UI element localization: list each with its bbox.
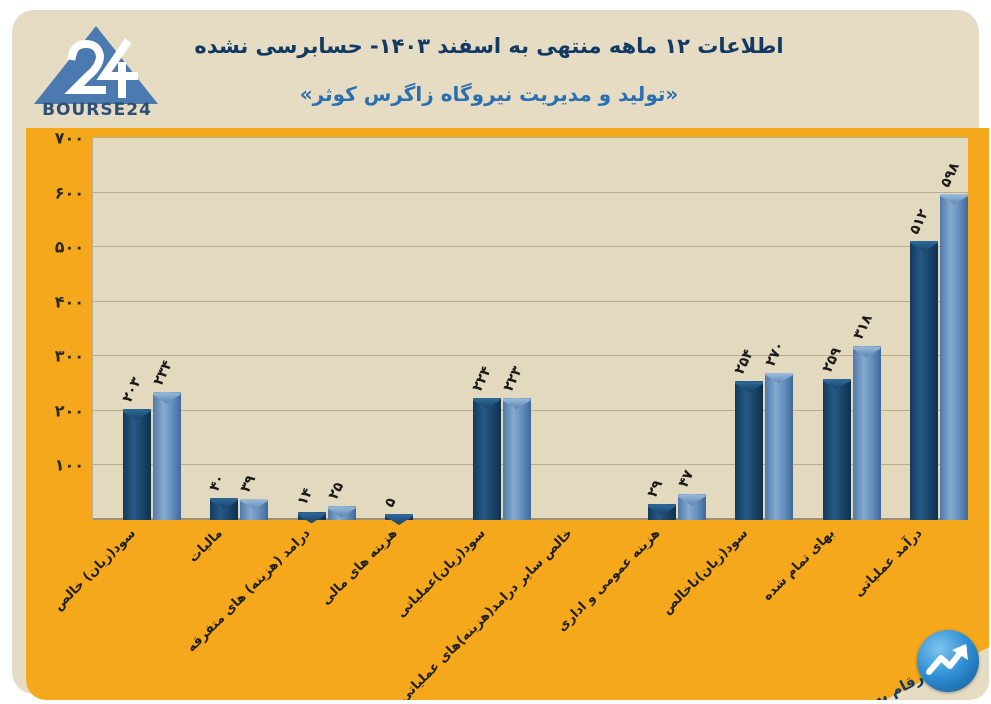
bar-series-dark[interactable]: ۱۴ [298, 512, 326, 520]
bar-value-label: ۲۵ [325, 480, 347, 502]
bar-cap [823, 379, 851, 390]
bar-group: ۲۵۹۳۱۸ [793, 138, 881, 520]
bar-group: ۲۲۴۲۲۳ [443, 138, 531, 520]
x-axis-tick-label: مالیات [186, 526, 226, 566]
bar-series-light[interactable]: ۳۱۸ [853, 346, 881, 520]
bar-series-light[interactable]: ۲۳۴ [153, 392, 181, 520]
y-axis-labels: ۱۰۰۲۰۰۳۰۰۴۰۰۵۰۰۶۰۰۷۰۰ [26, 128, 90, 520]
bar-cap [853, 346, 881, 357]
plot-area: ۵۱۲۵۹۸۲۵۹۳۱۸۲۵۴۲۷۰۲۹۴۷۲۲۴۲۲۳۵۱۴۲۵۴۰۳۹۲۰۳… [92, 138, 968, 520]
x-axis-tick-label: خالص سایر درامد(هزینه)های عملیاتی [396, 526, 576, 700]
bar-value-label: ۴۰ [206, 472, 228, 494]
bourse24-triangle-24-logo-icon: BOURSE24 [26, 22, 166, 122]
x-axis-tick-label: سود(زیان) خالص [51, 526, 139, 614]
bar-group [531, 138, 619, 520]
bar-value-label: ۱۴ [294, 486, 316, 508]
y-axis-tick-label: ۷۰۰ [55, 129, 84, 148]
bar-series-light[interactable]: ۲۷۰ [765, 373, 793, 520]
bar-series-dark[interactable]: ۴۰ [210, 498, 238, 520]
x-axis-tick-label: هزینه عمومی و اداری [555, 526, 664, 635]
bar-value-label: ۲۵۴ [731, 347, 756, 377]
bar-series-dark[interactable]: ۲۵۴ [735, 381, 763, 520]
bar-series-light[interactable]: ۵۹۸ [940, 194, 968, 520]
bar-value-label: ۲۰۳ [119, 375, 144, 405]
bar-series-dark[interactable]: ۲۲۴ [473, 398, 501, 520]
bar-cap [328, 506, 356, 517]
chart-panel: ۱۰۰۲۰۰۳۰۰۴۰۰۵۰۰۶۰۰۷۰۰ ۵۱۲۵۹۸۲۵۹۳۱۸۲۵۴۲۷۰… [26, 128, 989, 700]
bar-cap [298, 512, 326, 523]
bar-value-label: ۳۹ [237, 472, 259, 494]
bar-group: ۵ [356, 138, 444, 520]
bar-value-label: ۵۹۸ [937, 160, 962, 190]
bar-series-dark[interactable]: ۲۵۹ [823, 379, 851, 520]
bar-series-dark[interactable]: ۵۱۲ [910, 241, 938, 520]
bar-cap [648, 504, 676, 515]
bar-series-light[interactable]: ۳۹ [240, 499, 268, 520]
bar-group: ۴۰۳۹ [181, 138, 269, 520]
bar-cap [123, 409, 151, 420]
bar-series-light[interactable]: ۲۲۳ [503, 398, 531, 520]
bar-cap [940, 194, 968, 205]
bar-value-label: ۵ [381, 495, 399, 510]
page-subtitle: «تولید و مدیریت نیروگاه زاگرس کوثر» [169, 82, 809, 106]
chart-arrow-badge-icon [917, 630, 979, 692]
bar-cap [678, 494, 706, 505]
info-card: BOURSE24 اطلاعات ۱۲ ماهه منتهی به اسفند … [12, 10, 979, 694]
bar-value-label: ۳۱۸ [850, 312, 875, 342]
bar-value-label: ۲۲۳ [500, 364, 525, 394]
bar-series-light[interactable]: ۲۵ [328, 506, 356, 520]
y-axis-tick-label: ۱۰۰ [55, 456, 84, 475]
bar-cap [473, 398, 501, 409]
logo-wordmark: BOURSE24 [32, 100, 162, 120]
bar-group: ۲۵۴۲۷۰ [706, 138, 794, 520]
y-axis-tick-label: ۵۰۰ [55, 238, 84, 257]
bar-cap [240, 499, 268, 510]
bar-value-label: ۲۹ [644, 478, 666, 500]
y-axis-tick-label: ۲۰۰ [55, 401, 84, 420]
x-axis-tick-label: سود(زیان)عملیاتی [394, 526, 489, 621]
x-axis-tick-label: هزینه های مالی [319, 526, 401, 608]
y-axis-tick-label: ۳۰۰ [55, 347, 84, 366]
x-axis-tick-label: سود(زیان)ناخالص [659, 526, 751, 618]
bar-group: ۲۹۴۷ [618, 138, 706, 520]
bar-value-label: ۲۲۴ [469, 364, 494, 394]
bar-cap [910, 241, 938, 252]
bar-value-label: ۵۱۲ [906, 207, 931, 237]
poster: BOURSE24 اطلاعات ۱۲ ماهه منتهی به اسفند … [0, 0, 991, 704]
bar-cap [735, 381, 763, 392]
bar-group: ۵۱۲۵۹۸ [881, 138, 969, 520]
bar-cap [765, 373, 793, 384]
y-axis-tick-label: ۶۰۰ [55, 183, 84, 202]
bar-cap [210, 498, 238, 509]
x-axis-tick-label: بهای تمام شده [760, 526, 838, 604]
bar-value-label: ۲۳۴ [150, 358, 175, 388]
bar-series-dark[interactable]: ۲۰۳ [123, 409, 151, 520]
bar-value-label: ۴۷ [675, 468, 697, 490]
x-axis-category-labels: درآمد عملیاتیبهای تمام شدهسود(زیان)ناخال… [92, 526, 967, 696]
page-title: اطلاعات ۱۲ ماهه منتهی به اسفند ۱۴۰۳- حسا… [169, 32, 809, 60]
bar-series-light[interactable]: ۴۷ [678, 494, 706, 520]
x-axis-tick-label: درآمد عملیاتی [852, 526, 926, 600]
bar-series-dark[interactable]: ۲۹ [648, 504, 676, 520]
y-axis-tick-label: ۴۰۰ [55, 292, 84, 311]
bar-group: ۱۴۲۵ [268, 138, 356, 520]
bar-value-label: ۲۷۰ [762, 339, 787, 369]
bar-series-dark[interactable]: ۵ [385, 514, 413, 520]
bar-cap [153, 392, 181, 403]
bar-group: ۲۰۳۲۳۴ [93, 138, 181, 520]
bar-cap [503, 398, 531, 409]
bar-value-label: ۲۵۹ [819, 345, 844, 375]
bar-cap [385, 514, 413, 525]
